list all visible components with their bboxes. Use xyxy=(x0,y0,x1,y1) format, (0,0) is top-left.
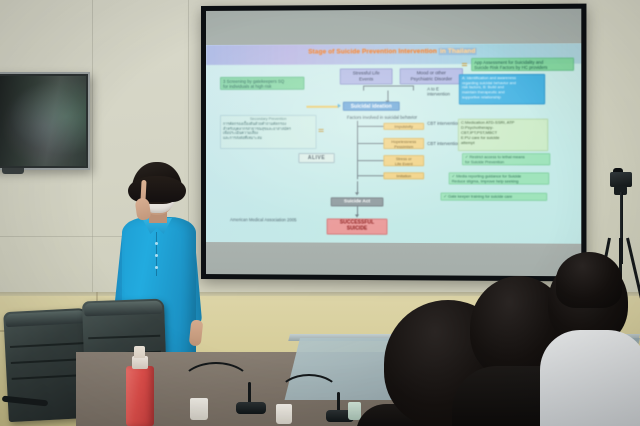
equals-sign-thai xyxy=(319,129,324,132)
presenter-right-hand xyxy=(189,319,204,346)
presenter-button-3 xyxy=(155,266,158,269)
box-medication-psychotherapy: C:Medication ATD-SSRI, ATP D:Psychothera… xyxy=(458,119,548,152)
presenter-button-2 xyxy=(155,254,158,257)
tv-screen xyxy=(0,76,86,166)
connector-stress xyxy=(357,160,383,161)
conference-room-scene: Stage of Suicide Prevention Intervention… xyxy=(0,0,640,426)
risk-factor-stress-life-event: Stress or Life Event xyxy=(383,155,424,166)
water-bottle[interactable] xyxy=(126,366,154,426)
box-successful-suicide: SUCCESSFUL SUICIDE xyxy=(327,218,388,234)
checklist-restrict-lethal-means: ✓ Restrict access to lethal means for Su… xyxy=(462,153,550,165)
tv-mount xyxy=(2,168,24,174)
presentation-slide: Stage of Suicide Prevention Intervention… xyxy=(206,43,581,243)
risk-factor-impulsivity: Impulsivity xyxy=(383,123,424,130)
box-stressful-life: Stressful Life Events xyxy=(340,68,393,84)
microphone-base-1 xyxy=(236,402,266,414)
chair-1-seam-a xyxy=(10,342,84,347)
slide-title-main: Stage of Suicide Prevention Intervention xyxy=(308,48,437,56)
slide-title: Stage of Suicide Prevention Intervention… xyxy=(308,48,476,56)
thai-block-body: การคัดกรองเบื้องต้นด้วยคำถามคัดกรอง สำหร… xyxy=(223,122,314,141)
box-screening-gatekeepers: 3 Screening by gatekeepers SQ for indivi… xyxy=(220,77,304,90)
arrowhead-screening xyxy=(338,104,341,108)
small-container[interactable] xyxy=(348,402,361,420)
presenter-button-1 xyxy=(155,242,158,245)
connector-spine-factors xyxy=(357,121,358,179)
box-app-assessment: App Assessment for Suicidality and Suici… xyxy=(471,58,574,72)
label-cbt-intervention-2: CBT intervention xyxy=(427,141,460,146)
wall-seam-a xyxy=(92,0,93,300)
arrow-screening-to-ideation xyxy=(306,106,338,108)
paper-cup-1[interactable] xyxy=(190,398,208,420)
connector-hopelessness xyxy=(357,143,383,144)
box-alive: ALIVE xyxy=(298,153,334,163)
box-suicidal-ideation: Suicidal ideation xyxy=(343,102,400,111)
checklist-gatekeeper-training: ✓ Gate keeper training for suicide care xyxy=(440,193,547,201)
attendee-3-hair xyxy=(556,252,622,308)
presenter-hair-front xyxy=(128,176,186,202)
paper-cup-2[interactable] xyxy=(276,404,292,424)
connector-imitation xyxy=(357,175,383,176)
chair-1-seam-b xyxy=(11,358,85,363)
risk-factor-hopelessness: Hopelessness Pessimism xyxy=(383,138,424,149)
chair-1-seam-c xyxy=(12,374,86,379)
box-mood-disorder: Mood or other Psychiatric Disorder xyxy=(400,68,463,84)
water-bottle-neck xyxy=(134,346,145,358)
wall-mounted-tv[interactable] xyxy=(0,72,90,170)
connector-brace-top xyxy=(363,85,414,90)
projection-surface: Stage of Suicide Prevention Intervention… xyxy=(206,9,581,277)
chair-2-headrest xyxy=(84,301,162,317)
projector-letterbox-top xyxy=(206,9,581,45)
label-factors-involved: Factors involved in suicidal behavior xyxy=(347,115,417,120)
attendee-3-shoulders xyxy=(540,330,640,426)
slide-title-highlight: in Thailand xyxy=(439,48,477,55)
connector-impulsivity xyxy=(357,126,383,127)
slide-credit: American Medical Association 2005 xyxy=(230,217,296,222)
arrow-down-suicide-act xyxy=(355,192,359,195)
box-identification-awareness: A: Identification and awareness regardin… xyxy=(459,74,545,105)
chair-1-headrest xyxy=(5,310,86,327)
checklist-media-reporting: ✓ Media reporting guidance for Suicide R… xyxy=(449,172,550,184)
risk-factor-imitation: Imitation xyxy=(383,172,424,179)
equals-sign-assessment xyxy=(462,63,467,66)
projection-screen: Stage of Suicide Prevention Intervention… xyxy=(201,4,586,282)
tripod-camera[interactable] xyxy=(610,172,632,187)
chair-2-seam-a xyxy=(88,335,160,339)
box-suicide-act: Suicide Act xyxy=(331,197,384,206)
thai-block-heading: Secondary Prevention xyxy=(223,117,314,122)
arrow-down-successful xyxy=(355,215,359,218)
projector-letterbox-bottom xyxy=(206,241,581,276)
label-cbt-intervention-1: CBT intervention xyxy=(427,121,460,126)
box-thai-secondary-prevention: Secondary Prevention การคัดกรองเบื้องต้น… xyxy=(220,115,317,149)
